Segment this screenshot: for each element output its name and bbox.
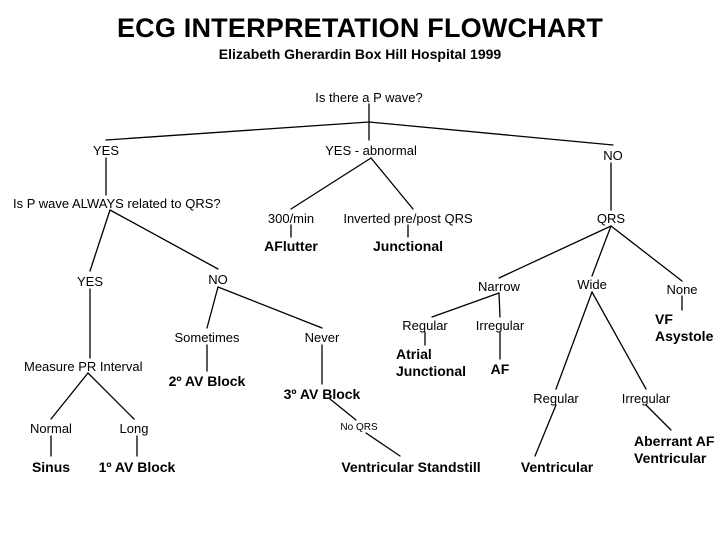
node-yes-related[interactable]: YES — [77, 274, 103, 289]
node-regular-wide-branch[interactable]: Regular — [533, 391, 579, 406]
node-vf-asystole-diagnosis[interactable]: VF Asystole — [655, 311, 713, 344]
node-wide-branch[interactable]: Wide — [577, 277, 607, 292]
node-aflutter-diagnosis[interactable]: AFlutter — [264, 238, 318, 255]
node-sinus-diagnosis[interactable]: Sinus — [32, 459, 70, 476]
node-irregular-narrow-branch[interactable]: Irregular — [476, 318, 524, 333]
node-aberrant-af-ventricular-diagnosis[interactable]: Aberrant AF Ventricular — [634, 433, 714, 466]
node-narrow-branch[interactable]: Narrow — [478, 279, 520, 294]
node-normal-pr-branch[interactable]: Normal — [30, 421, 72, 436]
node-yes-abnormal-branch[interactable]: YES - abnormal — [325, 143, 417, 158]
node-1st-degree-av-block-diagnosis[interactable]: 1º AV Block — [99, 459, 176, 476]
node-atrial-junctional-diagnosis[interactable]: Atrial Junctional — [396, 346, 466, 379]
node-2nd-degree-av-block-diagnosis[interactable]: 2º AV Block — [169, 373, 246, 390]
node-inverted-qrs-label[interactable]: Inverted pre/post QRS — [343, 211, 472, 226]
node-no-related[interactable]: NO — [208, 272, 228, 287]
node-irregular-wide-branch[interactable]: Irregular — [622, 391, 670, 406]
node-rate-300-label[interactable]: 300/min — [268, 211, 314, 226]
flowchart-page: ECG INTERPRETATION FLOWCHART Elizabeth G… — [0, 0, 720, 540]
node-root-question[interactable]: Is there a P wave? — [315, 90, 422, 105]
node-af-diagnosis[interactable]: AF — [491, 361, 510, 378]
node-sometimes-branch[interactable]: Sometimes — [174, 330, 239, 345]
node-ventricular-diagnosis[interactable]: Ventricular — [521, 459, 593, 476]
node-yes-branch[interactable]: YES — [93, 143, 119, 158]
node-p-wave-related-question[interactable]: Is P wave ALWAYS related to QRS? — [13, 196, 221, 211]
page-subtitle: Elizabeth Gherardin Box Hill Hospital 19… — [0, 47, 720, 62]
node-ventricular-standstill-diagnosis[interactable]: Ventricular Standstill — [341, 459, 480, 476]
node-none-branch[interactable]: None — [666, 282, 697, 297]
node-measure-pr-interval[interactable]: Measure PR Interval — [24, 359, 143, 374]
node-3rd-degree-av-block-diagnosis[interactable]: 3º AV Block — [284, 386, 361, 403]
node-no-qrs-label[interactable]: No QRS — [340, 422, 377, 434]
node-qrs-question[interactable]: QRS — [597, 211, 625, 226]
page-title: ECG INTERPRETATION FLOWCHART — [0, 14, 720, 42]
node-regular-narrow-branch[interactable]: Regular — [402, 318, 448, 333]
node-no-branch[interactable]: NO — [603, 148, 623, 163]
node-never-branch[interactable]: Never — [305, 330, 340, 345]
node-long-pr-branch[interactable]: Long — [120, 421, 149, 436]
node-junctional-diagnosis[interactable]: Junctional — [373, 238, 443, 255]
